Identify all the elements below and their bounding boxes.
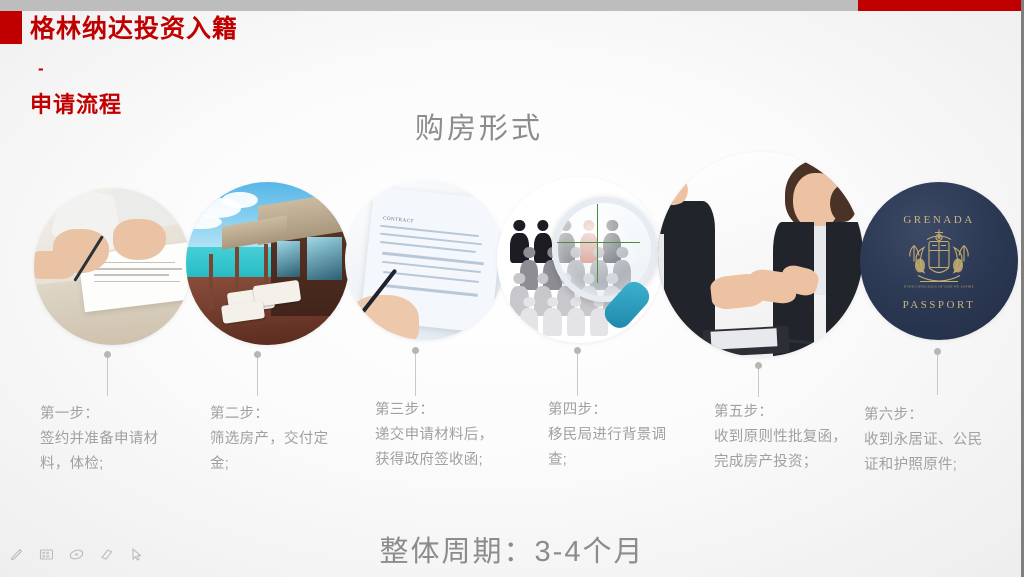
caption-line: 金; — [210, 452, 370, 477]
connector-dot — [574, 347, 581, 354]
connector-stem — [758, 369, 759, 397]
caption-line: 收到原则性批复函， — [714, 425, 884, 450]
connector-dot — [412, 347, 419, 354]
connector-stem — [415, 354, 416, 396]
presentation-slide: 格林纳达投资入籍 - 申请流程 购房形式 — [0, 0, 1024, 577]
step-caption-5: 第五步： 收到原则性批复函， 完成房产投资； — [714, 400, 884, 475]
step-caption-2: 第二步： 筛选房产，交付定 金; — [210, 402, 370, 477]
eraser-icon[interactable] — [98, 546, 115, 563]
connector-dot — [104, 351, 111, 358]
step-image-6: GRENADA — [860, 182, 1018, 340]
step-caption-1: 第一步： 签约并准备申请材 料，体检; — [40, 402, 200, 477]
business-handshake-photo — [658, 152, 863, 357]
caption-line: 完成房产投资； — [714, 450, 884, 475]
caption-line: 料，体检; — [40, 452, 200, 477]
caption-line: 第六步： — [864, 403, 1024, 428]
top-red-bar — [858, 0, 1024, 11]
passport-word-label: PASSPORT — [860, 299, 1018, 311]
caption-line: 第五步： — [714, 400, 884, 425]
connector-dot — [934, 348, 941, 355]
caption-line: 查; — [548, 448, 708, 473]
caption-line: 移民局进行背景调 — [548, 423, 708, 448]
arrow-cursor-icon[interactable] — [128, 546, 145, 563]
caption-line: 第二步： — [210, 402, 370, 427]
magnifier-background-check-illustration — [497, 177, 663, 343]
caption-line: 第四步： — [548, 398, 708, 423]
connector-stem — [577, 354, 578, 396]
laser-pointer-icon[interactable] — [68, 546, 85, 563]
caption-line: 筛选房产，交付定 — [210, 427, 370, 452]
step-image-5 — [658, 152, 863, 357]
slide-grid-icon[interactable] — [38, 546, 55, 563]
center-heading: 购房形式 — [415, 105, 543, 147]
step-caption-4: 第四步： 移民局进行背景调 查; — [548, 398, 708, 473]
caption-line: 第一步： — [40, 402, 200, 427]
caption-line: 签约并准备申请材 — [40, 427, 200, 452]
presentation-ink-toolbar[interactable] — [8, 546, 145, 563]
connector-stem — [257, 358, 258, 396]
contract-document-photo: CONTRACT — [345, 180, 505, 340]
connector-stem — [937, 355, 938, 395]
tropical-resort-villa-photo — [186, 182, 349, 345]
step-caption-6: 第六步： 收到永居证、公民 证和护照原件; — [864, 403, 1024, 478]
step-image-1 — [34, 188, 191, 345]
contract-signing-photo — [34, 188, 191, 345]
pen-icon[interactable] — [8, 546, 25, 563]
title-block: 格林纳达投资入籍 - 申请流程 — [30, 14, 460, 118]
step-image-4 — [497, 177, 663, 343]
caption-line: 获得政府签收函; — [375, 448, 540, 473]
connector-stem — [107, 358, 108, 396]
grenada-coat-of-arms-icon: EVER CONSCIOUS OF GOD WE ASPIRE — [900, 226, 978, 297]
title-accent-block — [0, 11, 22, 44]
page-subtitle: 申请流程 — [30, 92, 460, 118]
step-caption-3: 第三步： 递交申请材料后， 获得政府签收函; — [375, 398, 540, 473]
caption-line: 收到永居证、公民 — [864, 428, 1024, 453]
connector-dot — [254, 351, 261, 358]
caption-line: 递交申请材料后， — [375, 423, 540, 448]
grenada-passport-photo: GRENADA — [860, 182, 1018, 340]
connector-dot — [755, 362, 762, 369]
step-image-3: CONTRACT — [345, 180, 505, 340]
overall-duration-text: 整体周期：3-4个月 — [0, 528, 1024, 570]
title-dash: - — [38, 60, 460, 78]
page-title: 格林纳达投资入籍 — [30, 14, 460, 44]
step-image-2 — [186, 182, 349, 345]
svg-text:EVER CONSCIOUS OF GOD WE ASPIR: EVER CONSCIOUS OF GOD WE ASPIRE — [904, 285, 974, 289]
caption-line: 第三步： — [375, 398, 540, 423]
caption-line: 证和护照原件; — [864, 453, 1024, 478]
passport-country-label: GRENADA — [860, 214, 1018, 226]
